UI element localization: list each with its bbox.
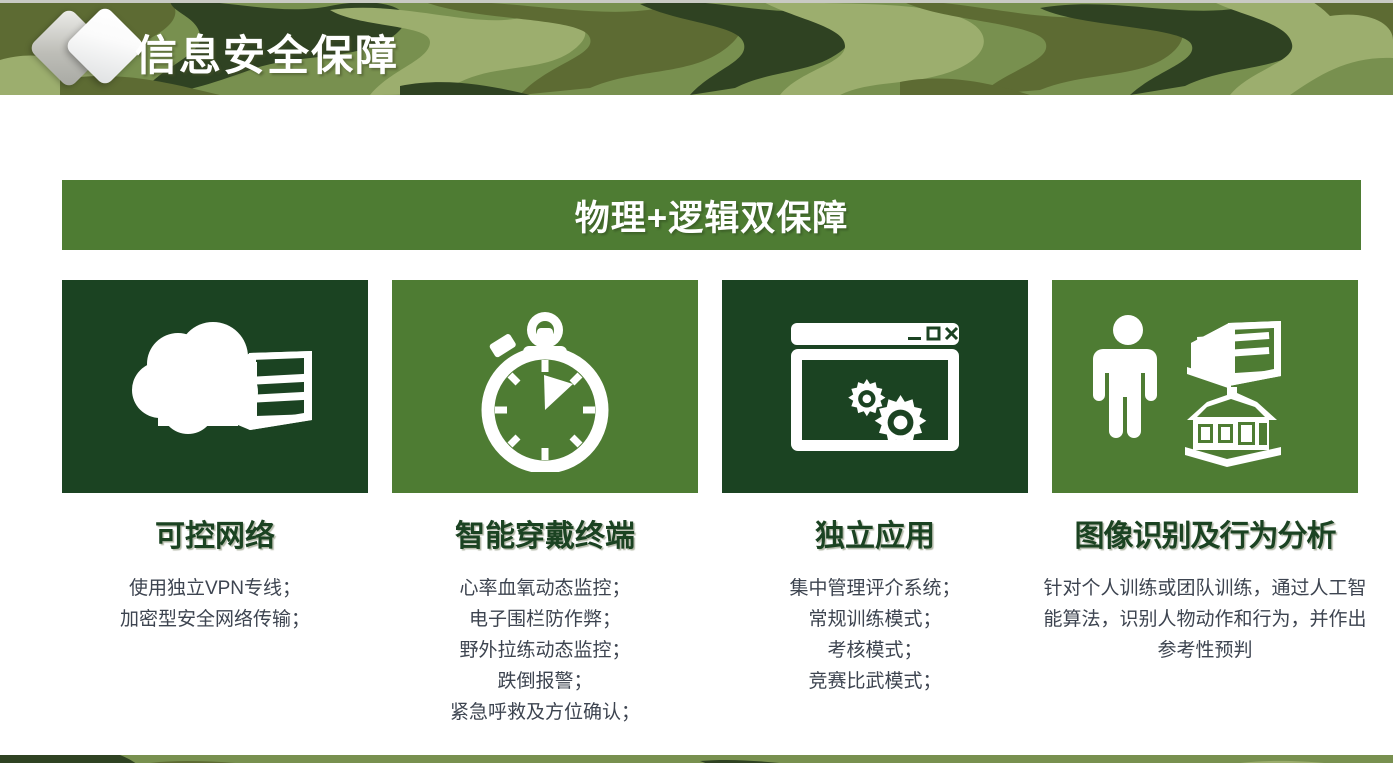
body-line: 常规训练模式； <box>722 604 1028 635</box>
column-heading-wearable: 智能穿戴终端 <box>455 511 635 555</box>
footer-band <box>0 755 1393 763</box>
body-line: 针对个人训练或团队训练，通过人工智能算法，识别人物动作和行为，并作出参考性预判 <box>1040 573 1370 666</box>
column-body-recognition: 针对个人训练或团队训练，通过人工智能算法，识别人物动作和行为，并作出参考性预判 <box>1040 573 1370 666</box>
feature-column-network: 可控网络 使用独立VPN专线； 加密型安全网络传输； <box>62 280 368 728</box>
body-line: 紧急呼救及方位确认； <box>392 697 698 728</box>
column-body-network: 使用独立VPN专线； 加密型安全网络传输； <box>62 573 368 635</box>
icon-card-wearable <box>392 280 698 493</box>
application-window-gears-icon <box>785 317 965 457</box>
body-line: 考核模式； <box>722 635 1028 666</box>
feature-column-application: 独立应用 集中管理评介系统； 常规训练模式； 考核模式； 竞赛比武模式； <box>722 280 1028 728</box>
page-title: 信息安全保障 <box>135 22 399 83</box>
camouflage-pattern-footer <box>0 755 1393 763</box>
person-buildings-icon <box>1085 307 1325 467</box>
cloud-server-icon <box>100 312 330 462</box>
person-figure <box>1093 315 1157 438</box>
column-heading-application: 独立应用 <box>815 511 935 555</box>
section-banner-label: 物理+逻辑双保障 <box>575 190 848 241</box>
feature-columns: 可控网络 使用独立VPN专线； 加密型安全网络传输； <box>62 280 1361 728</box>
header-band: 信息安全保障 <box>0 0 1393 95</box>
column-heading-recognition: 图像识别及行为分析 <box>1075 511 1336 555</box>
body-line: 使用独立VPN专线； <box>62 573 368 604</box>
column-heading-network: 可控网络 <box>155 511 275 555</box>
body-line: 电子围栏防作弊； <box>392 604 698 635</box>
column-body-application: 集中管理评介系统； 常规训练模式； 考核模式； 竞赛比武模式； <box>722 573 1028 697</box>
stopwatch-icon <box>465 302 625 472</box>
body-line: 跌倒报警； <box>392 666 698 697</box>
office-building <box>1187 320 1281 389</box>
feature-column-wearable: 智能穿戴终端 心率血氧动态监控； 电子围栏防作弊； 野外拉练动态监控； 跌倒报警… <box>392 280 698 728</box>
body-line: 心率血氧动态监控； <box>392 573 698 604</box>
feature-column-recognition: 图像识别及行为分析 针对个人训练或团队训练，通过人工智能算法，识别人物动作和行为… <box>1052 280 1358 728</box>
body-line: 集中管理评介系统； <box>722 573 1028 604</box>
section-banner: 物理+逻辑双保障 <box>62 180 1361 250</box>
column-body-wearable: 心率血氧动态监控； 电子围栏防作弊； 野外拉练动态监控； 跌倒报警； 紧急呼救及… <box>392 573 698 728</box>
body-line: 野外拉练动态监控； <box>392 635 698 666</box>
icon-card-recognition <box>1052 280 1358 493</box>
header-top-rule <box>0 0 1393 3</box>
body-line: 加密型安全网络传输； <box>62 604 368 635</box>
body-line: 竞赛比武模式； <box>722 666 1028 697</box>
icon-card-network <box>62 280 368 493</box>
icon-card-application <box>722 280 1028 493</box>
